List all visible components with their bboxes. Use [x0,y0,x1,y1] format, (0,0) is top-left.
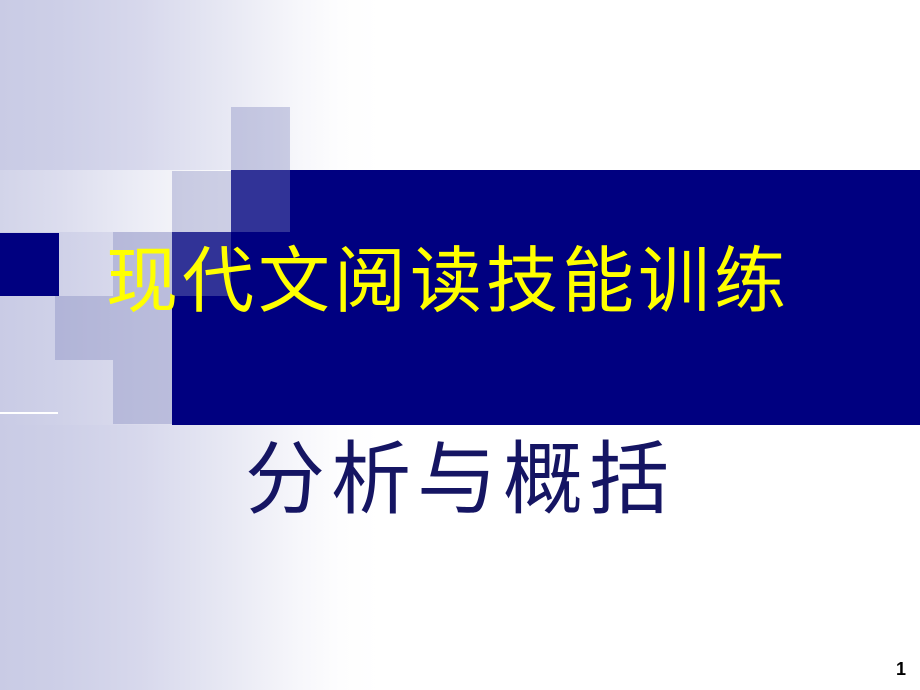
navy-accent-square [0,233,59,296]
slide-subtitle: 分析与概括 [0,440,920,520]
slide-title: 现代文阅读技能训练 [106,245,866,317]
decorative-square-7 [55,296,113,360]
decorative-square-1 [231,107,290,171]
decorative-square-2 [172,171,231,232]
decorative-square-3 [231,171,290,232]
page-number: 1 [896,659,906,680]
decorative-square-8 [113,360,172,424]
presentation-slide: 现代文阅读技能训练 分析与概括 1 [0,0,920,690]
white-divider-rule [0,412,58,414]
